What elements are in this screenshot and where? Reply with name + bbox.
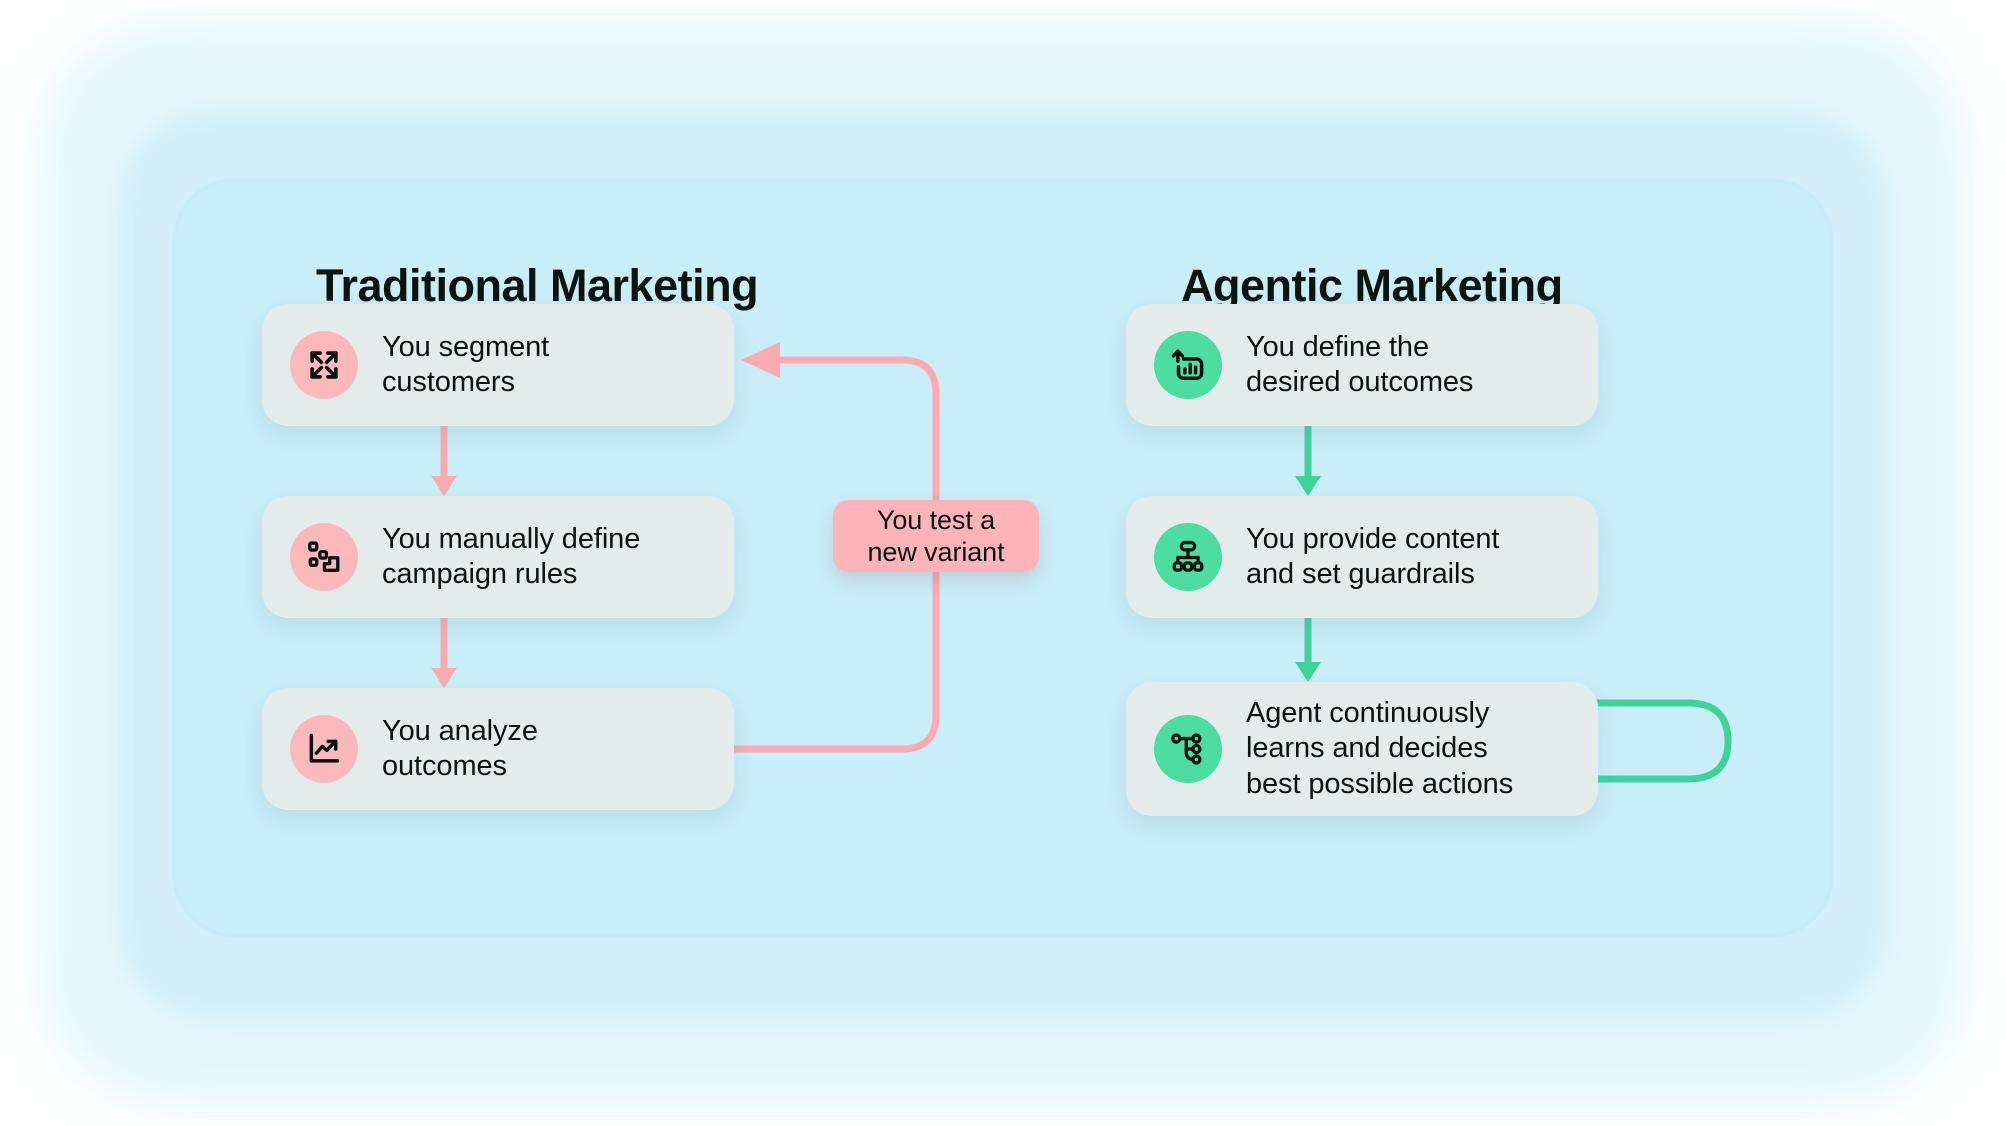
step-card-define-outcomes[interactable]: You define the desired outcomes <box>1126 304 1598 426</box>
branch-nodes-icon <box>1154 715 1222 783</box>
wire-right-step1-to-step2 <box>1295 426 1321 496</box>
line-chart-up-icon <box>290 715 358 783</box>
wire-right-step2-to-step3 <box>1295 618 1321 682</box>
step-card-label: You manually define campaign rules <box>382 522 640 592</box>
diagram-stage: Traditional Marketing Agentic Marketing … <box>0 0 2006 1126</box>
expand-arrows-icon <box>290 331 358 399</box>
step-card-label: You define the desired outcomes <box>1246 330 1473 400</box>
step-card-provide-content[interactable]: You provide content and set guardrails <box>1126 496 1598 618</box>
step-card-agent-learns[interactable]: Agent continuously learns and decides be… <box>1126 682 1598 816</box>
hierarchy-icon <box>1154 523 1222 591</box>
step-card-campaign-rules[interactable]: You manually define campaign rules <box>262 496 734 618</box>
feedback-loop-pill-test-variant[interactable]: You test a new variant <box>833 500 1039 572</box>
feedback-loop-pill-label: You test a new variant <box>868 504 1005 569</box>
wire-left-step2-to-step3 <box>431 618 457 688</box>
diagram-canvas: Traditional Marketing Agentic Marketing … <box>176 182 1830 934</box>
step-card-segment-customers[interactable]: You segment customers <box>262 304 734 426</box>
wire-left-step1-to-step2 <box>431 426 457 496</box>
step-card-label: You provide content and set guardrails <box>1246 522 1499 592</box>
step-card-label: Agent continuously learns and decides be… <box>1246 696 1513 801</box>
step-card-label: You segment customers <box>382 330 549 400</box>
shapes-scatter-icon <box>290 523 358 591</box>
bar-chart-up-icon <box>1154 331 1222 399</box>
step-card-analyze-outcomes[interactable]: You analyze outcomes <box>262 688 734 810</box>
step-card-label: You analyze outcomes <box>382 714 538 784</box>
